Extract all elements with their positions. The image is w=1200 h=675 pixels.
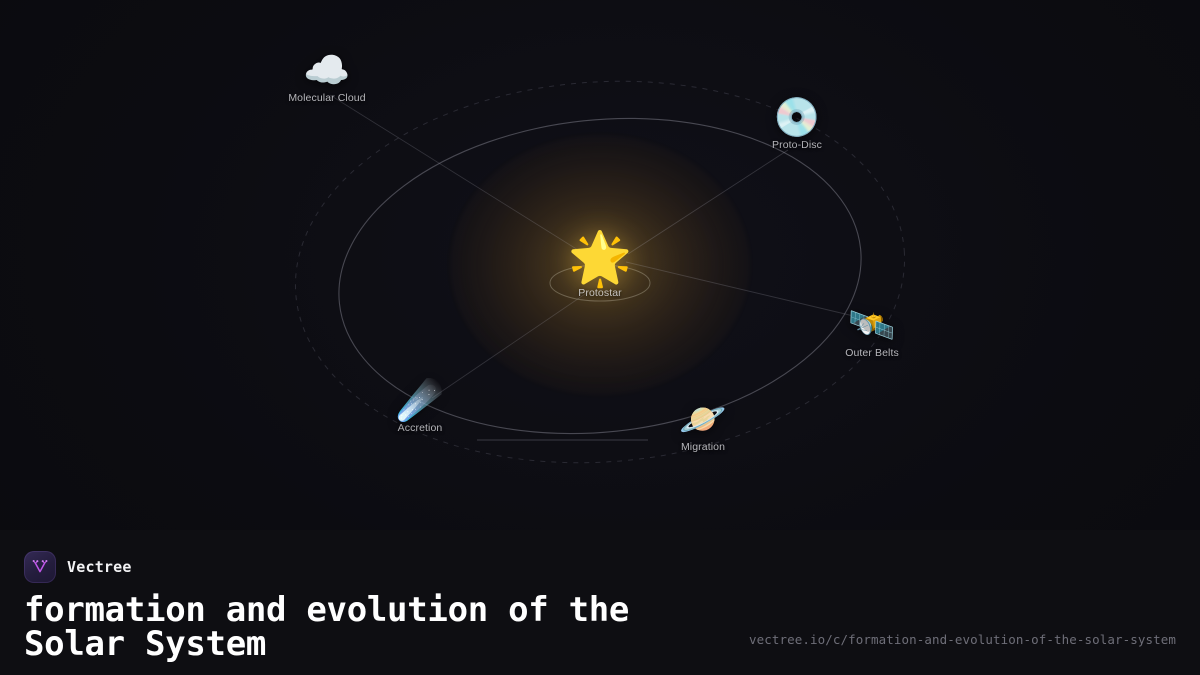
page-url[interactable]: vectree.io/c/formation-and-evolution-of-…: [749, 632, 1176, 647]
vectree-tree-glyph: [30, 557, 50, 577]
node-label-accretion: Accretion: [398, 422, 443, 434]
comet-icon: ☄️: [396, 382, 443, 420]
node-label-protostar: Protostar: [578, 287, 622, 299]
node-label-migration: Migration: [681, 441, 725, 453]
vectree-tree-icon: [24, 551, 56, 583]
footer-bar: Vectree formation and evolution of the S…: [0, 530, 1200, 675]
node-protostar[interactable]: 🌟 Protostar: [568, 233, 633, 299]
node-outer-belts[interactable]: 🛰️ Outer Belts: [845, 307, 899, 359]
node-label-proto-disc: Proto-Disc: [772, 139, 822, 151]
satellite-icon: 🛰️: [848, 307, 895, 345]
page-title-line-1: formation and evolution of the: [24, 593, 704, 627]
node-proto-disc[interactable]: 💿 Proto-Disc: [772, 99, 822, 151]
node-label-molecular-cloud: Molecular Cloud: [288, 92, 365, 104]
vectree-share-card: 🌟 Protostar ☁️ Molecular Cloud 💿 Proto-D…: [0, 0, 1200, 675]
glowing-star-icon: 🌟: [568, 233, 633, 285]
node-label-outer-belts: Outer Belts: [845, 347, 899, 359]
page-title: formation and evolution of the Solar Sys…: [24, 593, 704, 661]
ringed-planet-icon: 🪐: [679, 401, 726, 439]
node-accretion[interactable]: ☄️ Accretion: [396, 382, 443, 434]
brand[interactable]: Vectree: [24, 550, 1176, 584]
optical-disc-icon: 💿: [773, 99, 820, 137]
node-migration[interactable]: 🪐 Migration: [679, 401, 726, 453]
node-molecular-cloud[interactable]: ☁️ Molecular Cloud: [288, 52, 365, 104]
cloud-icon: ☁️: [303, 52, 350, 90]
page-title-line-2: Solar System: [24, 627, 704, 661]
brand-name: Vectree: [67, 558, 132, 576]
